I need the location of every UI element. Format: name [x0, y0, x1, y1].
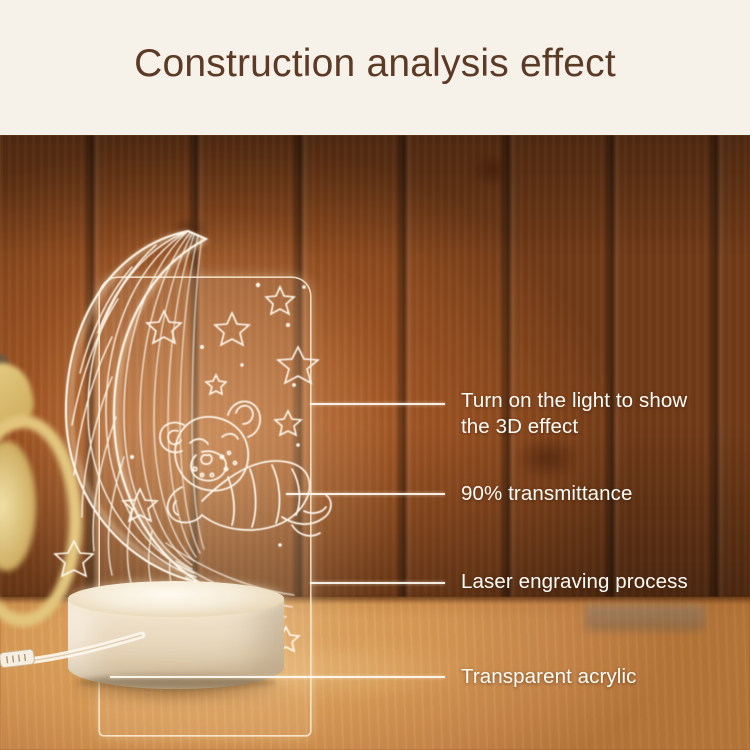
product-photo-scene: Turn on the light to show the 3D effect …	[0, 135, 750, 750]
callout-label-laser-engraving: Laser engraving process	[461, 569, 688, 595]
callout-label-transmittance: 90% transmittance	[461, 481, 632, 507]
leader-line-3d-effect	[310, 403, 445, 405]
leader-line-transparent-acrylic	[110, 676, 445, 678]
leader-line-laser-engraving	[310, 582, 445, 584]
header-band: Construction analysis effect	[0, 0, 750, 135]
product-infographic: Construction analysis effect	[0, 0, 750, 750]
page-title: Construction analysis effect	[134, 44, 616, 83]
callout-label-transparent-acrylic: Transparent acrylic	[461, 664, 636, 690]
leader-line-transmittance	[286, 493, 445, 495]
callout-layer: Turn on the light to show the 3D effect …	[0, 135, 750, 750]
callout-label-3d-effect: Turn on the light to show the 3D effect	[461, 388, 687, 440]
